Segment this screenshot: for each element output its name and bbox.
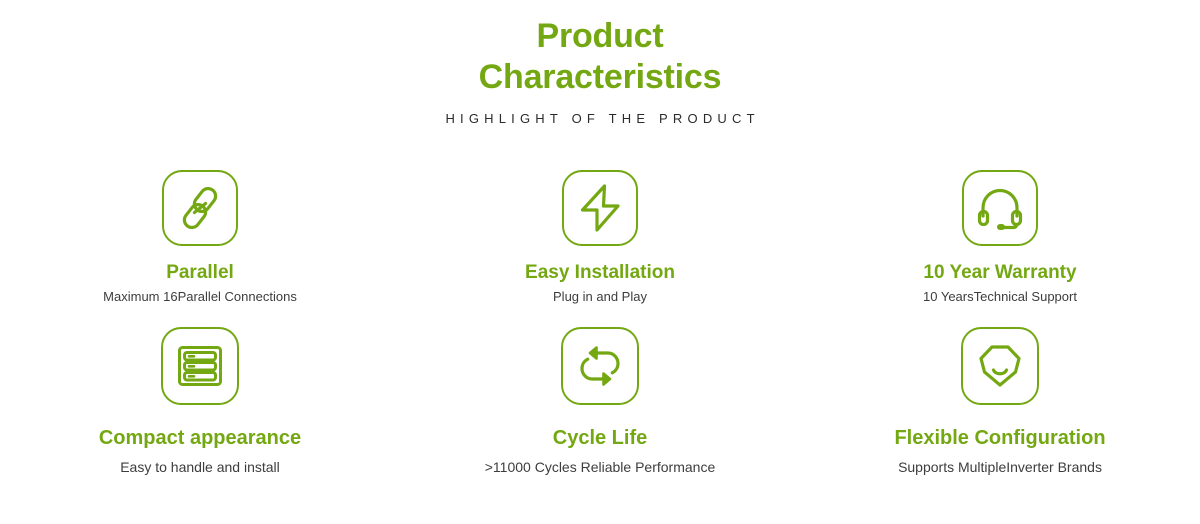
- page-title: Product Characteristics: [0, 16, 1200, 98]
- feature-title: 10 Year Warranty: [923, 262, 1076, 284]
- feature-desc: 10 YearsTechnical Support: [923, 288, 1077, 305]
- server-rack-icon: [161, 327, 239, 405]
- feature-grid: Parallel Maximum 16Parallel Connections …: [0, 170, 1200, 487]
- feature-card-easy-installation: Easy Installation Plug in and Play: [400, 170, 800, 327]
- feature-desc: Supports MultipleInverter Brands: [898, 459, 1102, 476]
- feature-desc: >11000 Cycles Reliable Performance: [485, 459, 715, 476]
- feature-title: Flexible Configuration: [894, 427, 1105, 449]
- chain-link-icon: [162, 170, 238, 246]
- feature-card-flexible-configuration: Flexible Configuration Supports Multiple…: [800, 327, 1200, 487]
- feature-desc: Maximum 16Parallel Connections: [103, 288, 297, 305]
- feature-title: Parallel: [166, 262, 234, 284]
- feature-desc: Plug in and Play: [553, 288, 647, 305]
- feature-title: Easy Installation: [525, 262, 675, 284]
- lightning-bolt-icon: [562, 170, 638, 246]
- headset-icon: [962, 170, 1038, 246]
- feature-card-cycle-life: Cycle Life >11000 Cycles Reliable Perfor…: [400, 327, 800, 487]
- page-header: Product Characteristics HIGHLIGHT OF THE…: [0, 16, 1200, 126]
- feature-title: Cycle Life: [553, 427, 647, 449]
- page-subtitle: HIGHLIGHT OF THE PRODUCT: [0, 111, 1200, 126]
- feature-card-compact-appearance: Compact appearance Easy to handle and in…: [0, 327, 400, 487]
- feature-title: Compact appearance: [99, 427, 301, 449]
- feature-desc: Easy to handle and install: [120, 459, 280, 476]
- cycle-arrows-icon: [561, 327, 639, 405]
- feature-card-warranty: 10 Year Warranty 10 YearsTechnical Suppo…: [800, 170, 1200, 327]
- product-characteristics-page: Product Characteristics HIGHLIGHT OF THE…: [0, 0, 1200, 524]
- feature-card-parallel: Parallel Maximum 16Parallel Connections: [0, 170, 400, 327]
- shield-check-icon: [961, 327, 1039, 405]
